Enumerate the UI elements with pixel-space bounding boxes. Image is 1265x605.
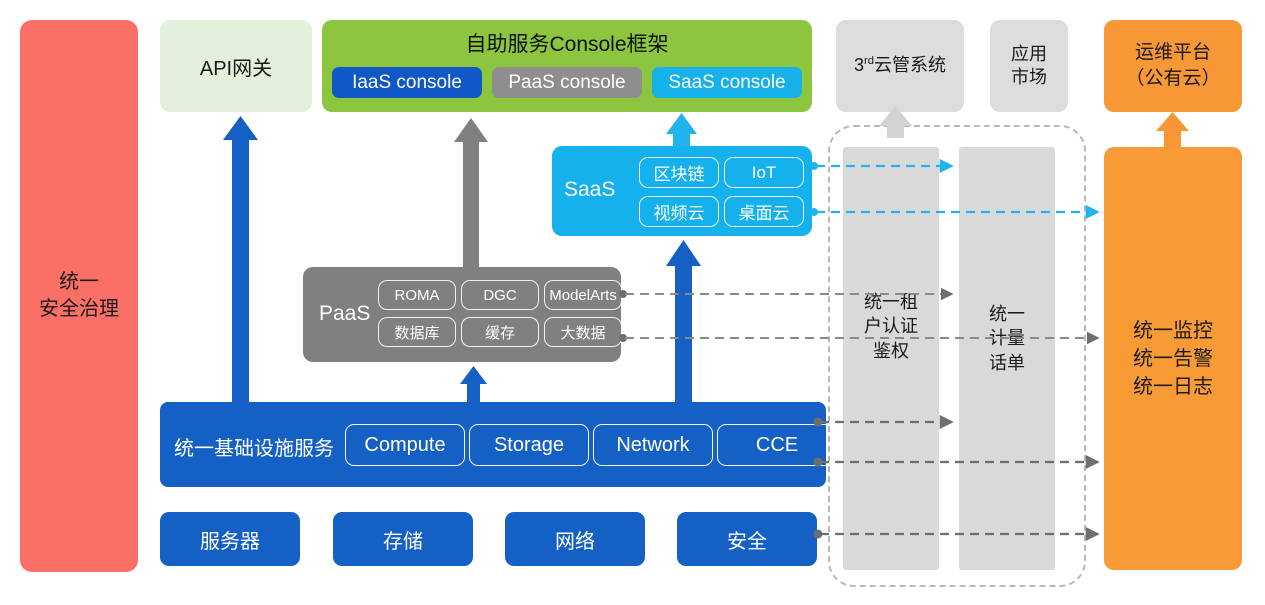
api-gateway-box: API网关 (160, 20, 312, 112)
arrow-paas-to-console (454, 118, 488, 267)
infra-item-network-label: Network (616, 434, 689, 457)
arrow-infra-to-saas (666, 240, 701, 402)
saas-console-label: SaaS console (668, 72, 785, 94)
shared-column-tenant-auth-label: 统一租 户认证 鉴权 (843, 290, 939, 363)
infra-item-cce-label: CCE (756, 434, 798, 457)
console-framework-box: 自助服务Console框架 IaaS console PaaS console … (322, 20, 812, 112)
app-market-label-line1: 应用 (1011, 43, 1047, 66)
saas-label: SaaS (564, 178, 615, 202)
paas-item-bigdata[interactable]: 大数据 (544, 317, 622, 347)
arrow-saas-to-console (666, 113, 697, 147)
saas-item-desktop-cloud-label: 桌面云 (739, 199, 790, 224)
resource-box-network[interactable]: 网络 (505, 512, 645, 566)
paas-item-cache-label: 缓存 (485, 322, 515, 343)
paas-item-modelarts[interactable]: ModelArts (544, 280, 622, 310)
paas-item-cache[interactable]: 缓存 (461, 317, 539, 347)
unified-security-label-line2: 安全治理 (39, 296, 119, 323)
unified-infrastructure-label: 统一基础设施服务 (174, 432, 334, 461)
saas-item-video-cloud-label: 视频云 (654, 199, 705, 224)
paas-console-label: PaaS console (508, 72, 625, 94)
iaas-console-chip[interactable]: IaaS console (332, 67, 482, 98)
resource-box-server[interactable]: 服务器 (160, 512, 300, 566)
ops-panel-label-line3: 统一日志 (1133, 373, 1213, 401)
third-party-cloud-mgmt-box: 3rd云管系统 (836, 20, 964, 112)
api-gateway-label: API网关 (200, 52, 272, 81)
saas-item-desktop-cloud[interactable]: 桌面云 (724, 196, 804, 227)
app-market-box: 应用 市场 (990, 20, 1068, 112)
resource-box-storage[interactable]: 存储 (333, 512, 473, 566)
shared-column-tenant-auth: 统一租 户认证 鉴权 (843, 147, 939, 570)
app-market-label-line2: 市场 (1011, 66, 1047, 89)
saas-box: SaaS 区块链 IoT 视频云 桌面云 (552, 146, 812, 236)
ops-panel-label-line1: 统一监控 (1133, 317, 1213, 345)
ops-platform-label-line1: 运维平台 (1135, 40, 1211, 66)
saas-item-blockchain[interactable]: 区块链 (639, 157, 719, 188)
console-framework-title: 自助服务Console框架 (322, 28, 812, 58)
ops-panel-label-line2: 统一告警 (1133, 345, 1213, 373)
arrow-infra-to-paas (460, 366, 487, 402)
paas-item-database[interactable]: 数据库 (378, 317, 456, 347)
paas-item-dgc-label: DGC (483, 287, 516, 304)
shared-column-metering-billing-label: 统一 计量 话单 (959, 302, 1055, 375)
resource-box-server-label: 服务器 (200, 525, 260, 554)
architecture-diagram: 统一 安全治理 API网关 自助服务Console框架 IaaS console… (0, 0, 1265, 605)
unified-security-label-line1: 统一 (59, 269, 99, 296)
saas-item-video-cloud[interactable]: 视频云 (639, 196, 719, 227)
paas-label: PaaS (319, 302, 370, 326)
ops-platform-label-line2: （公有云） (1125, 66, 1220, 92)
paas-box: PaaS ROMA DGC ModelArts 数据库 缓存 大数据 (303, 267, 621, 362)
paas-item-roma-label: ROMA (395, 287, 440, 304)
resource-box-storage-label: 存储 (383, 525, 423, 554)
resource-box-network-label: 网络 (555, 525, 595, 554)
ops-platform-public-cloud-box: 运维平台 （公有云） (1104, 20, 1242, 112)
infra-item-storage-label: Storage (494, 434, 564, 457)
resource-box-security-label: 安全 (727, 525, 767, 554)
iaas-console-label: IaaS console (352, 72, 462, 94)
paas-item-modelarts-label: ModelArts (549, 287, 617, 304)
saas-item-blockchain-label: 区块链 (654, 160, 705, 185)
saas-item-iot-label: IoT (752, 163, 777, 183)
unified-security-panel: 统一 安全治理 (20, 20, 138, 572)
infra-item-storage[interactable]: Storage (469, 424, 589, 466)
paas-item-database-label: 数据库 (394, 322, 439, 343)
paas-item-roma[interactable]: ROMA (378, 280, 456, 310)
shared-column-metering-billing: 统一 计量 话单 (959, 147, 1055, 570)
infra-item-compute-label: Compute (364, 434, 445, 457)
resource-box-security[interactable]: 安全 (677, 512, 817, 566)
paas-item-bigdata-label: 大数据 (560, 322, 605, 343)
paas-console-chip[interactable]: PaaS console (492, 67, 642, 98)
unified-infrastructure-bar: 统一基础设施服务 Compute Storage Network CCE (160, 402, 826, 487)
saas-console-chip[interactable]: SaaS console (652, 67, 802, 98)
ops-panel-box: 统一监控 统一告警 统一日志 (1104, 147, 1242, 570)
infra-item-cce[interactable]: CCE (717, 424, 837, 466)
infra-item-compute[interactable]: Compute (345, 424, 465, 466)
arrow-ops-panel-to-platform (1156, 112, 1189, 147)
paas-item-dgc[interactable]: DGC (461, 280, 539, 310)
third-party-cloud-mgmt-label: 3rd云管系统 (854, 54, 946, 77)
saas-item-iot[interactable]: IoT (724, 157, 804, 188)
infra-item-network[interactable]: Network (593, 424, 713, 466)
arrow-infra-to-api-gateway (223, 116, 258, 402)
